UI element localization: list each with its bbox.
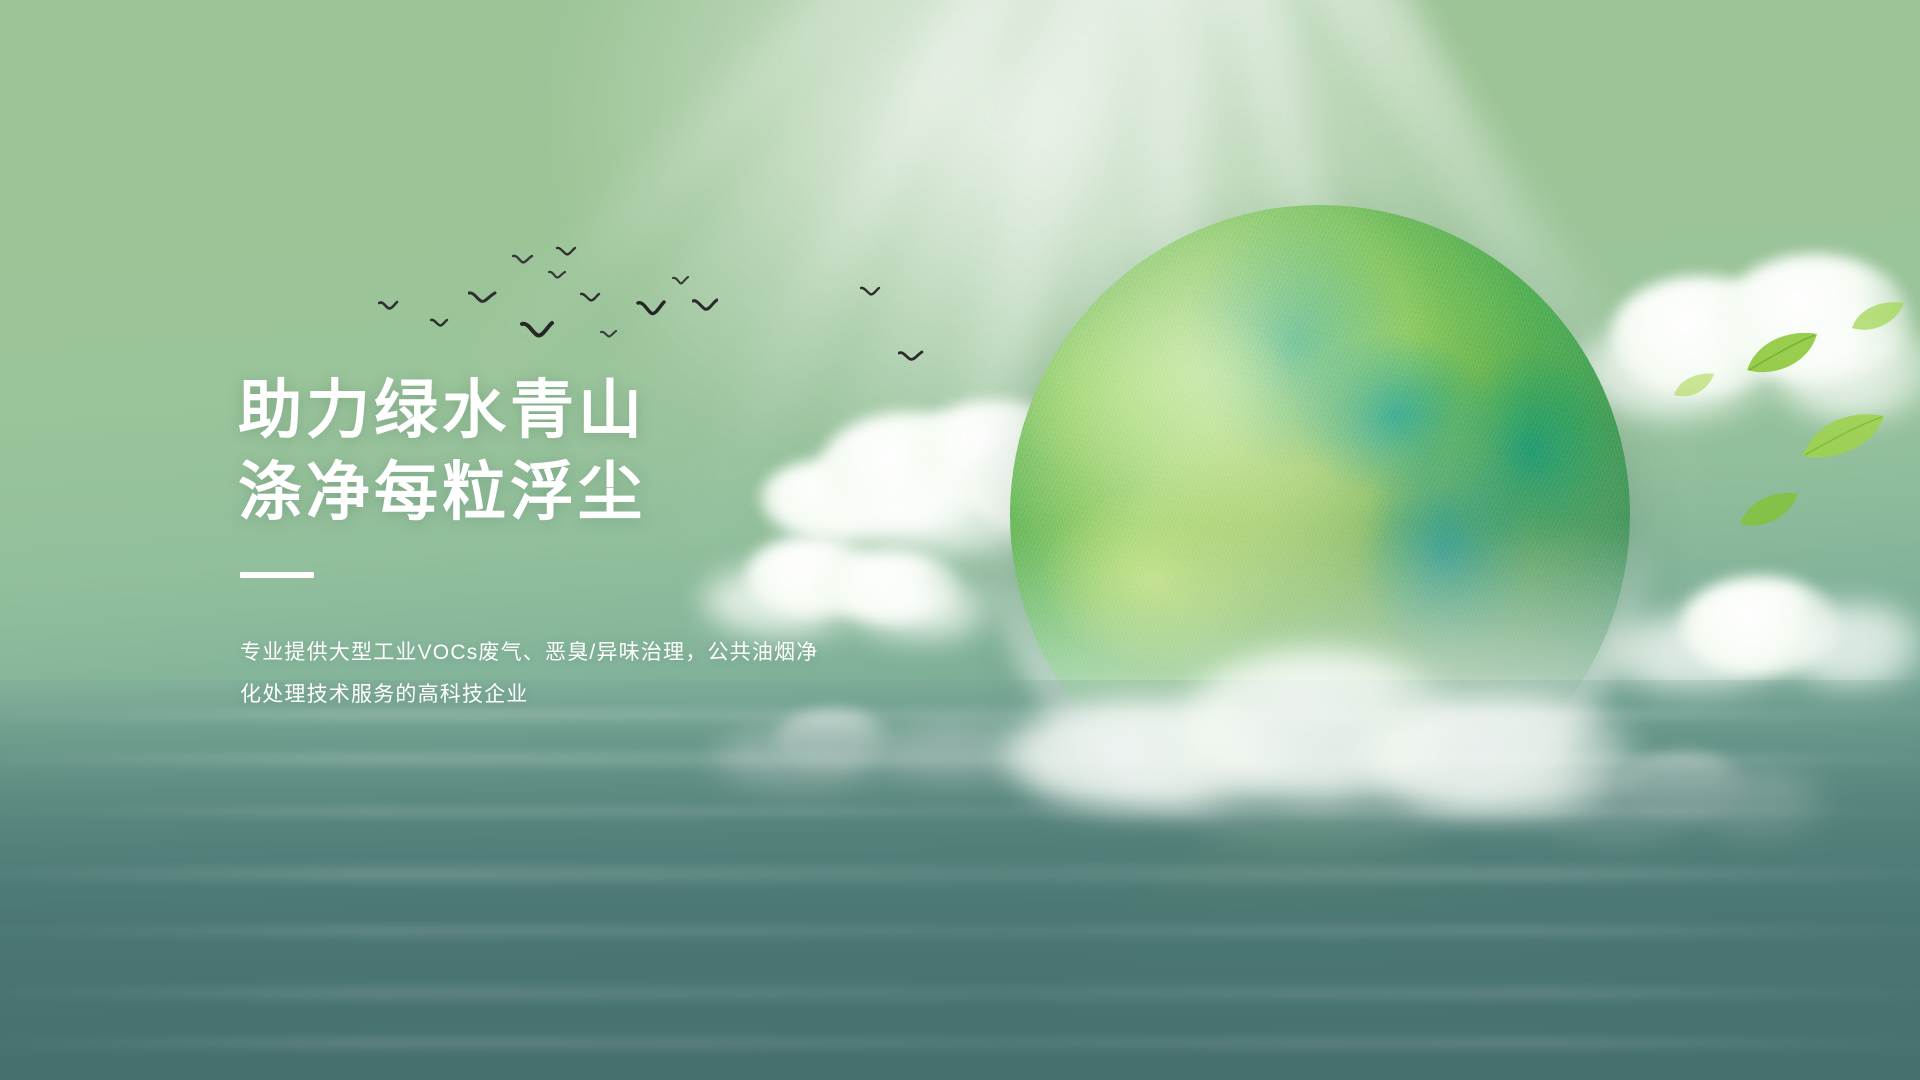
bird-icon [556, 246, 578, 258]
hero-copy: 助力绿水青山 涤净每粒浮尘 专业提供大型工业VOCs废气、恶臭/异味治理，公共油… [238, 370, 998, 716]
page-title: 助力绿水青山 涤净每粒浮尘 [238, 370, 998, 534]
bird-icon [430, 318, 452, 330]
leaf-icon [1672, 372, 1716, 405]
hero-subtitle: 专业提供大型工业VOCs废气、恶臭/异味治理，公共油烟净 化处理技术服务的高科技… [240, 632, 900, 716]
subtitle-line-2: 化处理技术服务的高科技企业 [240, 674, 900, 716]
leaf-icon [1800, 410, 1886, 467]
bird-icon [692, 298, 718, 313]
bird-icon [512, 254, 536, 267]
white-rule-divider [240, 572, 314, 578]
bird-icon [860, 286, 882, 298]
bird-icon [468, 291, 498, 307]
bird-icon [378, 300, 404, 314]
leaf-icon [1850, 300, 1906, 339]
bird-icon [520, 320, 554, 340]
hero-banner: 助力绿水青山 涤净每粒浮尘 专业提供大型工业VOCs废气、恶臭/异味治理，公共油… [0, 0, 1920, 1080]
headline-line-1: 助力绿水青山 [238, 370, 998, 452]
subtitle-line-1: 专业提供大型工业VOCs废气、恶臭/异味治理，公共油烟净 [240, 632, 900, 674]
leaf-icon [1745, 330, 1819, 381]
bird-icon [548, 270, 568, 281]
bird-icon [580, 292, 602, 304]
bird-icon [636, 300, 666, 318]
leaf-icon [1738, 490, 1800, 535]
headline-line-2: 涤净每粒浮尘 [238, 452, 998, 534]
water-surface [0, 680, 1920, 1080]
bird-icon [672, 276, 690, 287]
bird-icon [898, 350, 924, 364]
bird-icon [600, 330, 618, 340]
